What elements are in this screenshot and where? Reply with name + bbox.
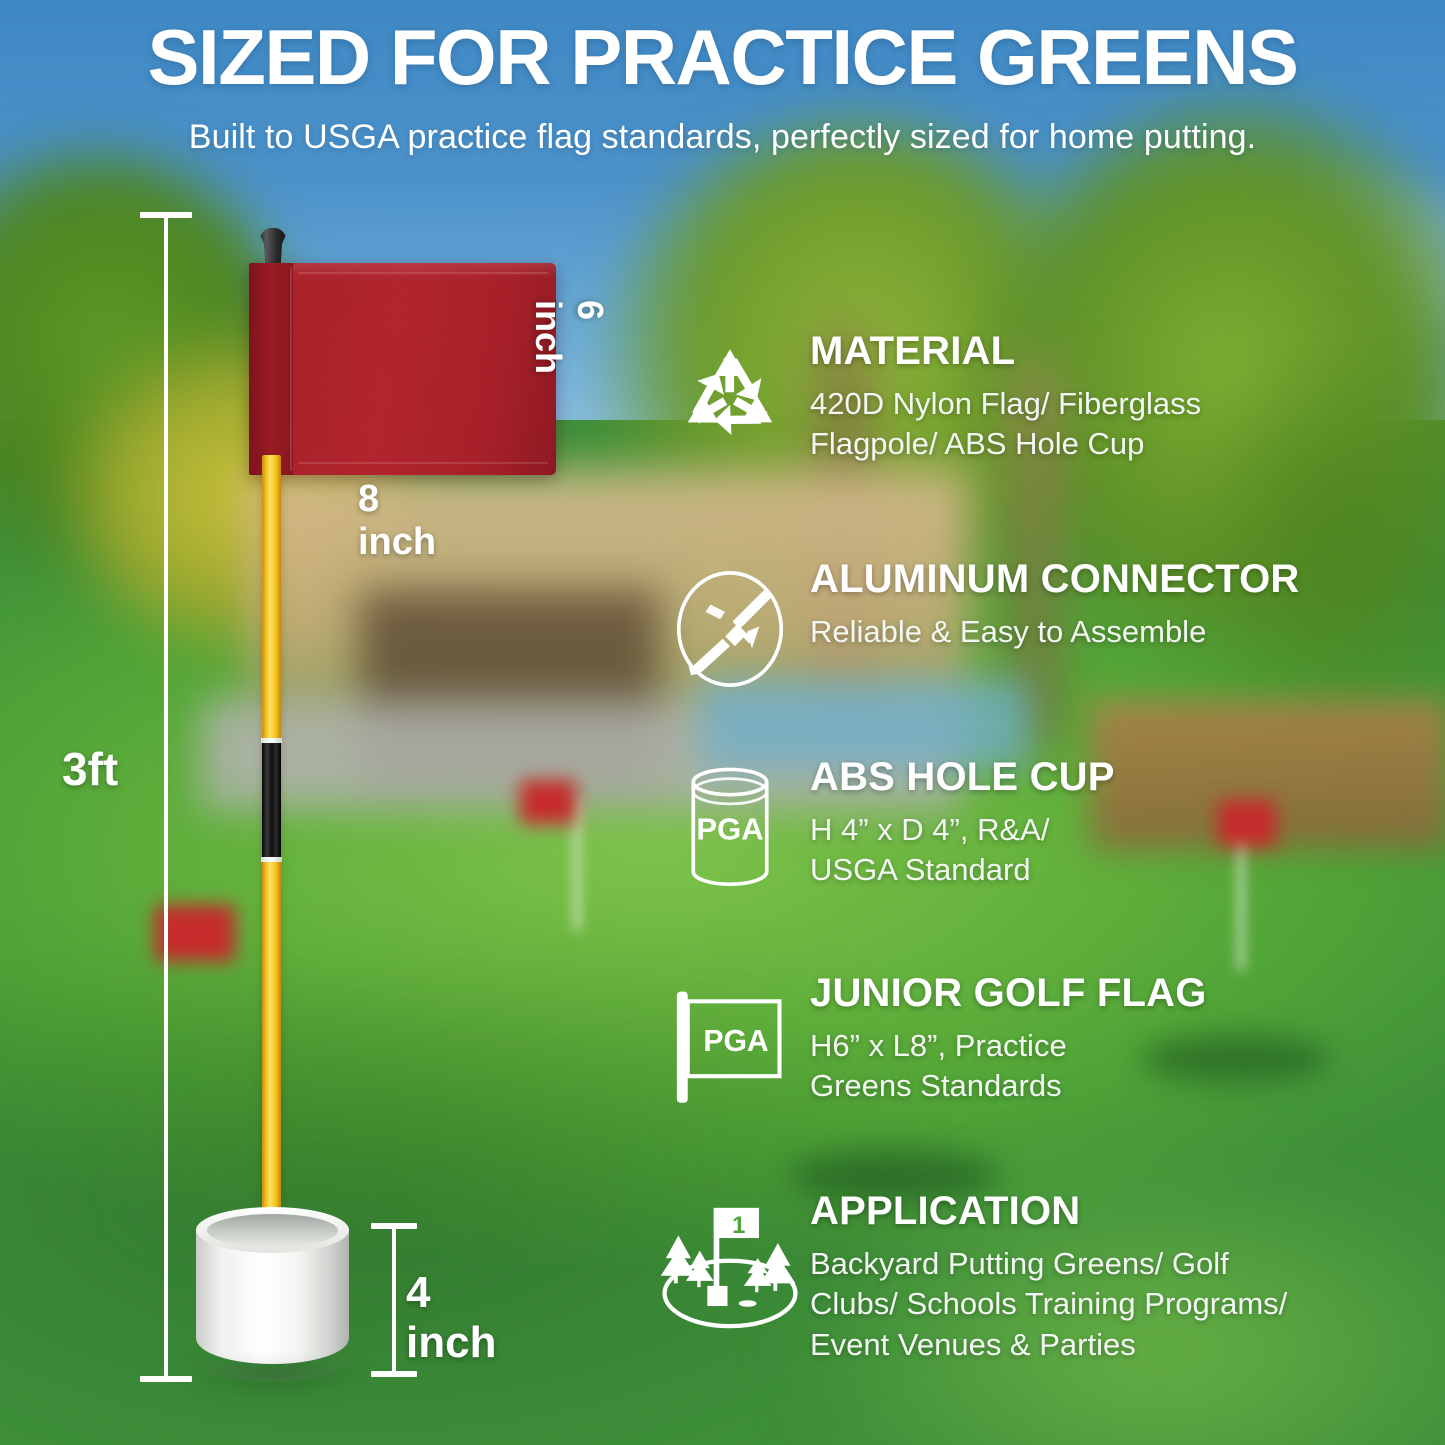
flag-top-highlight — [293, 263, 556, 279]
feature-title: MATERIAL — [810, 330, 1445, 372]
feature-desc-line: Flagpole/ ABS Hole Cup — [810, 424, 1445, 464]
feature-text: APPLICATION Backyard Putting Greens/ Gol… — [810, 1190, 1445, 1365]
cup-opening — [207, 1214, 338, 1247]
feature-desc-line: Reliable & Easy to Assemble — [810, 612, 1445, 652]
feature-junior-golf-flag: PGA JUNIOR GOLF FLAG H6” x L8”, Practice… — [650, 972, 1445, 1190]
product-illustration — [0, 0, 650, 1445]
feature-list: MATERIAL 420D Nylon Flag/ Fiberglass Fla… — [650, 330, 1445, 1420]
feature-title: ABS HOLE CUP — [810, 756, 1445, 798]
hole-cup-icon: PGA — [650, 756, 810, 890]
header: SIZED FOR PRACTICE GREENS Built to USGA … — [0, 0, 1445, 157]
feature-description: Reliable & Easy to Assemble — [810, 600, 1445, 652]
feature-description: H6” x L8”, Practice Greens Standards — [810, 1014, 1445, 1107]
flagpole-finial — [257, 228, 289, 266]
feature-desc-line: Backyard Putting Greens/ Golf — [810, 1244, 1445, 1284]
connector-bottom-cap — [261, 857, 282, 862]
feature-desc-line: H6” x L8”, Practice — [810, 1026, 1445, 1066]
recycle-icon — [650, 330, 810, 456]
abs-hole-cup — [196, 1207, 349, 1382]
hole-cup-icon-label: PGA — [696, 811, 763, 846]
flag-sleeve — [249, 263, 293, 475]
dimension-label-flag-length: 8 inch — [358, 478, 436, 564]
feature-text: JUNIOR GOLF FLAG H6” x L8”, Practice Gre… — [810, 972, 1445, 1107]
dimension-label-flag-height: 6 inch — [527, 300, 611, 374]
feature-description: 420D Nylon Flag/ Fiberglass Flagpole/ AB… — [810, 372, 1445, 465]
golf-flag-icon: PGA — [650, 972, 810, 1110]
golf-flag-icon-label: PGA — [703, 1025, 768, 1058]
feature-title: JUNIOR GOLF FLAG — [810, 972, 1445, 1014]
connector-icon — [650, 558, 810, 690]
page-title: SIZED FOR PRACTICE GREENS — [0, 0, 1445, 98]
feature-aluminum-connector: ALUMINUM CONNECTOR Reliable & Easy to As… — [650, 558, 1445, 756]
connector-top-cap — [261, 738, 282, 743]
dimension-line — [164, 214, 168, 1379]
feature-desc-line: H 4” x D 4”, R&A/ — [810, 810, 1445, 850]
putting-green-icon: 1 — [650, 1190, 810, 1334]
feature-text: ALUMINUM CONNECTOR Reliable & Easy to As… — [810, 558, 1445, 652]
feature-text: MATERIAL 420D Nylon Flag/ Fiberglass Fla… — [810, 330, 1445, 465]
page-subtitle: Built to USGA practice flag standards, p… — [0, 98, 1445, 157]
feature-description: Backyard Putting Greens/ Golf Clubs/ Sch… — [810, 1232, 1445, 1365]
dimension-label-pole-height: 3ft — [62, 742, 118, 796]
feature-desc-line: Greens Standards — [810, 1066, 1445, 1106]
feature-description: H 4” x D 4”, R&A/ USGA Standard — [810, 798, 1445, 891]
feature-application: 1 APPLICATION Backyard Putting Greens/ — [650, 1190, 1445, 1420]
aluminum-connector-section — [262, 742, 281, 860]
dimension-cap-bottom — [371, 1371, 417, 1377]
flag-weave-texture — [249, 263, 556, 475]
feature-abs-hole-cup: PGA ABS HOLE CUP H 4” x D 4”, R&A/ USGA … — [650, 756, 1445, 972]
flag-sleeve-stitch — [290, 267, 292, 471]
feature-desc-line: Event Venues & Parties — [810, 1325, 1445, 1365]
flag-bottom-stitch — [299, 462, 548, 464]
feature-desc-line: 420D Nylon Flag/ Fiberglass — [810, 384, 1445, 424]
feature-desc-line: Clubs/ Schools Training Programs/ — [810, 1284, 1445, 1324]
feature-material: MATERIAL 420D Nylon Flag/ Fiberglass Fla… — [650, 330, 1445, 558]
red-practice-flag — [249, 263, 556, 475]
putting-green-icon-label: 1 — [732, 1212, 745, 1239]
dimension-cap-bottom — [140, 1376, 192, 1382]
cup-bottom-shading — [196, 1352, 349, 1382]
dimension-label-cup-height: 4 inch — [406, 1268, 496, 1368]
feature-title: APPLICATION — [810, 1190, 1445, 1232]
dimension-line — [392, 1225, 396, 1373]
feature-desc-line: USGA Standard — [810, 850, 1445, 890]
feature-text: ABS HOLE CUP H 4” x D 4”, R&A/ USGA Stan… — [810, 756, 1445, 891]
feature-title: ALUMINUM CONNECTOR — [810, 558, 1445, 600]
